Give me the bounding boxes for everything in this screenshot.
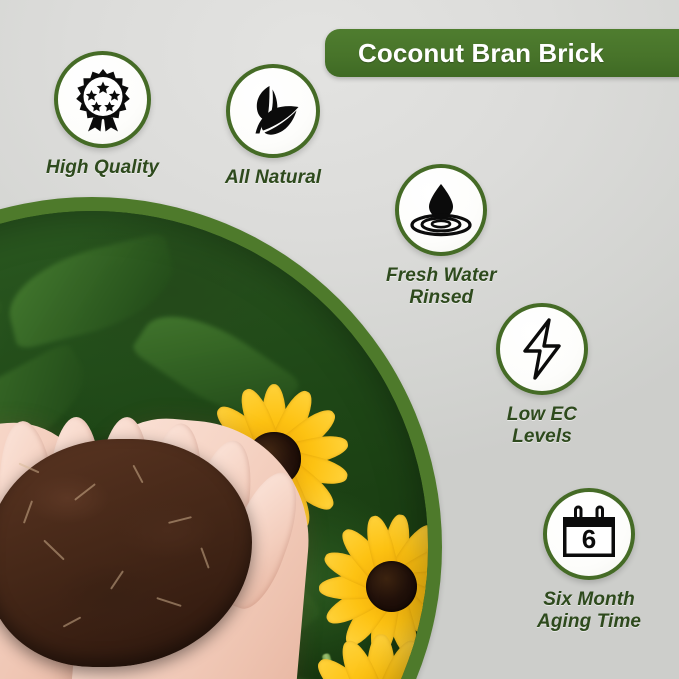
feature-low-ec-levels[interactable]: Low EC Levels — [496, 303, 588, 449]
water-drop-ripple-icon — [409, 182, 473, 238]
lightning-bolt-icon — [519, 318, 565, 380]
infographic-stage: Coconut Bran Brick High Quali — [0, 0, 679, 679]
feature-badge-circle — [54, 51, 151, 148]
feature-badge-circle — [395, 164, 487, 256]
calendar-icon: 6 — [559, 505, 619, 563]
feature-all-natural[interactable]: All Natural — [225, 64, 321, 189]
feature-label: Fresh Water Rinsed — [386, 265, 497, 310]
hands-holding-coconut-coir-photo — [0, 211, 428, 679]
photo-circle-ring — [0, 197, 442, 679]
product-title-banner: Coconut Bran Brick — [325, 29, 679, 77]
leaves-icon — [242, 80, 304, 142]
feature-high-quality[interactable]: High Quality — [46, 51, 159, 179]
feature-badge-circle — [496, 303, 588, 395]
feature-fresh-water-rinsed[interactable]: Fresh Water Rinsed — [386, 164, 497, 310]
page-title: Coconut Bran Brick — [325, 38, 604, 69]
feature-label: Low EC Levels — [507, 404, 577, 449]
award-rosette-icon — [72, 67, 134, 133]
feature-badge-circle — [226, 64, 320, 158]
feature-six-month-aging-time[interactable]: 6 Six Month Aging Time — [537, 488, 641, 634]
calendar-number: 6 — [582, 524, 596, 554]
feature-label: High Quality — [46, 157, 159, 179]
feature-badge-circle: 6 — [543, 488, 635, 580]
feature-label: Six Month Aging Time — [537, 589, 641, 634]
feature-label: All Natural — [225, 167, 321, 189]
